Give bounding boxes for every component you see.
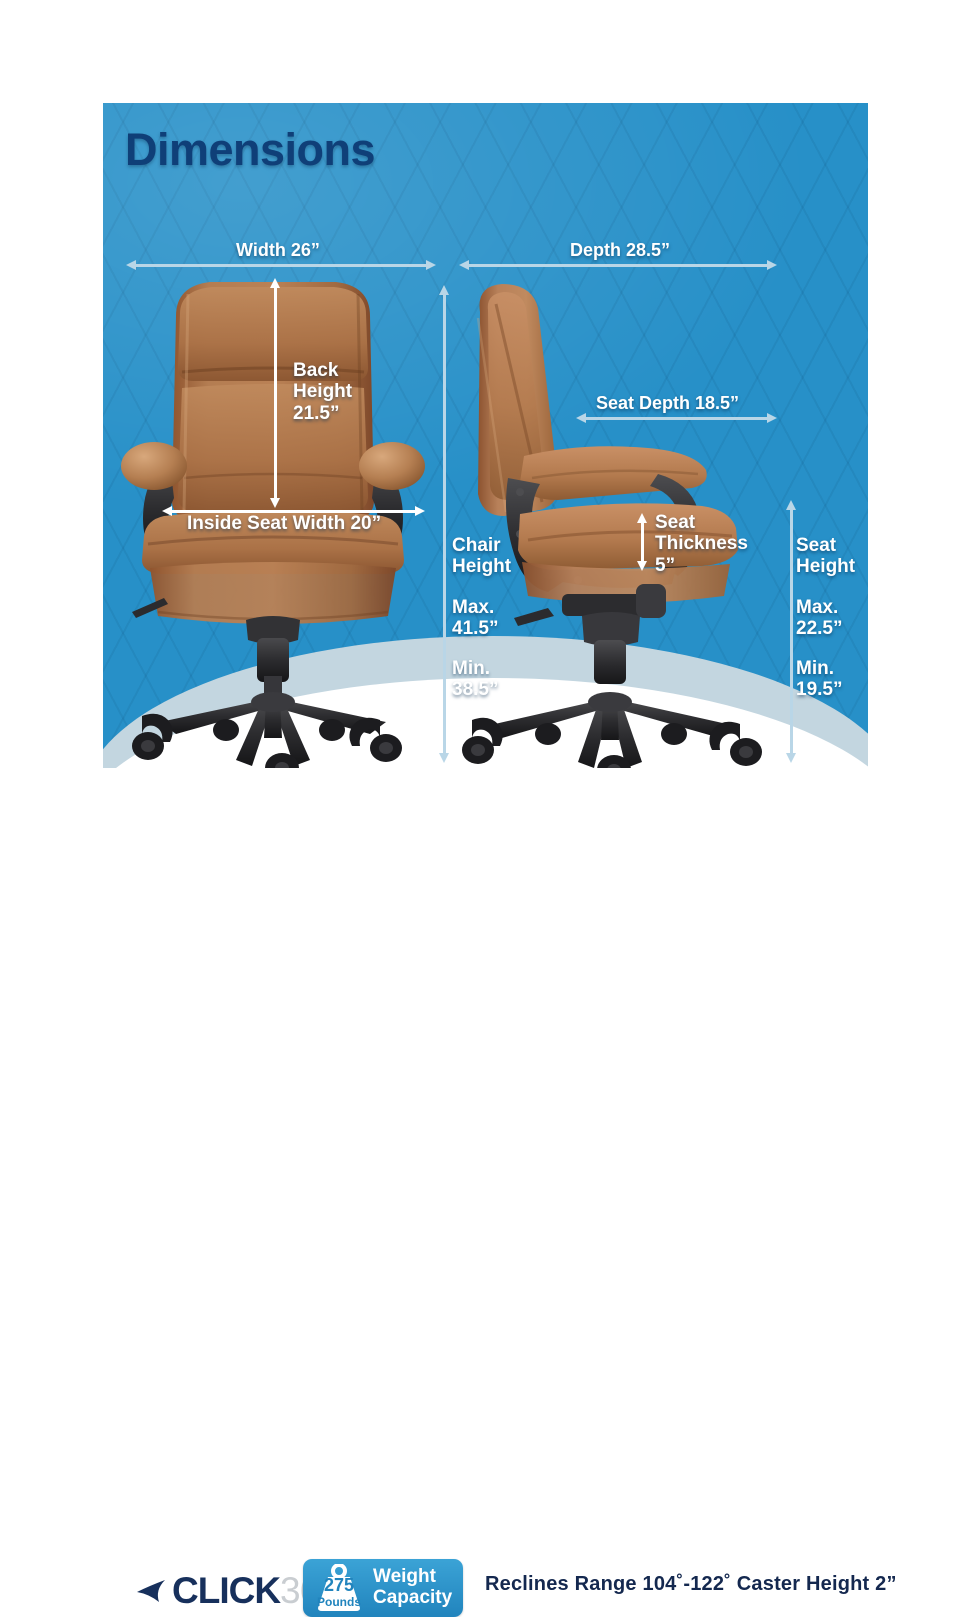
logo-text-click: CLICK: [172, 1570, 280, 1612]
arrow-seat-depth: [576, 413, 777, 423]
label-back-height: Back Height 21.5”: [293, 360, 352, 424]
arrow-seat-thickness: [637, 513, 647, 571]
label-seat-depth: Seat Depth 18.5”: [596, 393, 739, 413]
bottom-bar: CLICK 365 ™ 275 Pounds Weight Capacity R…: [0, 770, 970, 890]
arrow-chair-height: [439, 285, 449, 763]
label-chair-height-min: Min. 38.5”: [452, 658, 498, 701]
page-title: Dimensions: [125, 124, 375, 176]
infographic-canvas: Dimensions: [0, 0, 970, 971]
label-depth: Depth 28.5”: [570, 240, 670, 260]
label-chair-height: Chair Height: [452, 535, 511, 578]
label-chair-height-max: Max. 41.5”: [452, 597, 498, 640]
arrow-seat-height: [786, 500, 796, 763]
arrow-depth: [459, 260, 777, 270]
label-seat-height: Seat Height: [796, 535, 855, 578]
weight-icon: 275 Pounds: [310, 1564, 368, 1612]
label-inside-seat-width: Inside Seat Width 20”: [187, 513, 381, 534]
label-seat-height-max: Max. 22.5”: [796, 597, 842, 640]
weight-number: 275: [324, 1576, 354, 1594]
weight-capacity-line1: Weight: [373, 1567, 452, 1588]
arrow-width: [126, 260, 436, 270]
weight-unit: Pounds: [317, 1596, 361, 1608]
weight-capacity-badge: 275 Pounds Weight Capacity: [303, 1559, 463, 1617]
weight-capacity-line2: Capacity: [373, 1588, 452, 1609]
logo-arrow-icon: [133, 1576, 167, 1606]
arrow-back-height: [270, 278, 280, 508]
label-width: Width 26”: [236, 240, 320, 260]
weight-value-group: 275 Pounds: [310, 1564, 368, 1612]
spec-text: Reclines Range 104˚-122˚ Caster Height 2…: [485, 1573, 897, 1596]
label-seat-thickness: Seat Thickness 5”: [655, 512, 748, 576]
weight-capacity-caption: Weight Capacity: [373, 1567, 452, 1608]
label-seat-height-min: Min. 19.5”: [796, 658, 842, 701]
chair-side-view: [462, 278, 802, 768]
